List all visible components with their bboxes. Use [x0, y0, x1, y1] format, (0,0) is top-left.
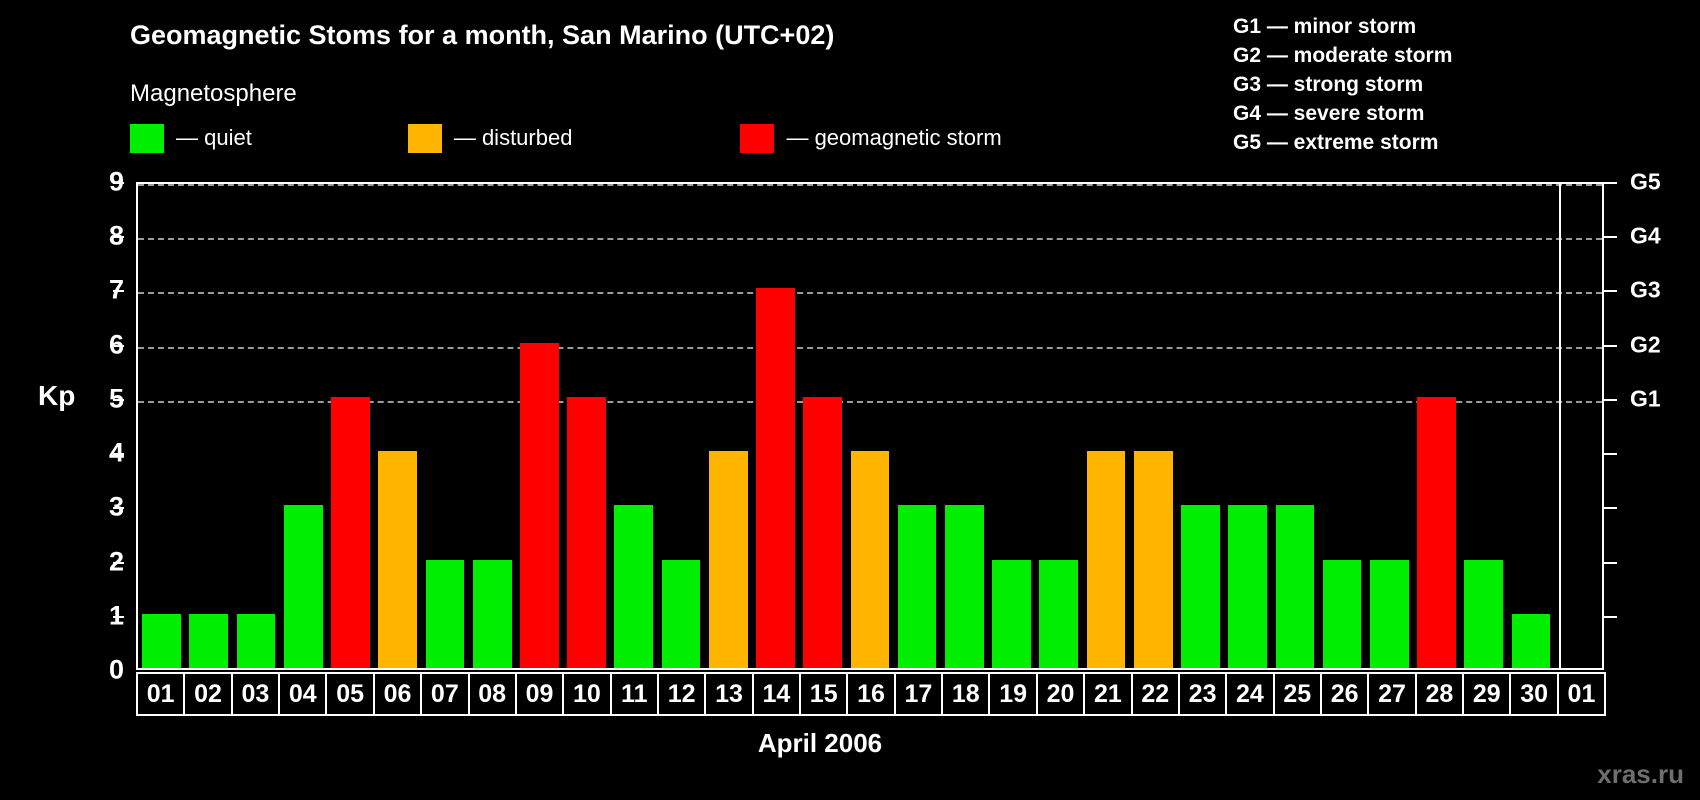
day-label-19[interactable]: 19 — [988, 672, 1037, 716]
legend: — quiet— disturbed— geomagnetic storm — [130, 122, 1002, 154]
bar-slot-day-03[interactable] — [232, 184, 279, 668]
bar-slot-day-10[interactable] — [563, 184, 610, 668]
y-tick-mark-7 — [113, 290, 124, 292]
day-label-14[interactable]: 14 — [752, 672, 801, 716]
day-label-30[interactable]: 30 — [1509, 672, 1558, 716]
bar-day-15[interactable] — [803, 397, 842, 668]
bar-slot-day-24[interactable] — [1224, 184, 1271, 668]
day-label-06[interactable]: 06 — [373, 672, 422, 716]
bar-day-27[interactable] — [1370, 560, 1409, 668]
bar-slot-day-20[interactable] — [1035, 184, 1082, 668]
bar-day-30[interactable] — [1512, 614, 1551, 668]
bar-day-11[interactable] — [614, 505, 653, 668]
day-label-21[interactable]: 21 — [1083, 672, 1132, 716]
bar-day-13[interactable] — [709, 451, 748, 668]
day-label-02[interactable]: 02 — [183, 672, 232, 716]
bar-day-05[interactable] — [331, 397, 370, 668]
g-axis-tick-kp-5 — [1604, 399, 1617, 401]
day-label-17[interactable]: 17 — [894, 672, 943, 716]
g-axis-label-G4: G4 — [1630, 223, 1661, 250]
legend-item-disturbed: — disturbed — [408, 122, 573, 154]
day-label-09[interactable]: 09 — [515, 672, 564, 716]
y-tick-mark-5 — [113, 399, 124, 401]
bar-slot-day-04[interactable] — [280, 184, 327, 668]
day-label-20[interactable]: 20 — [1036, 672, 1085, 716]
bar-day-28[interactable] — [1417, 397, 1456, 668]
g-scale-axis: G1G2G3G4G5 — [1604, 182, 1700, 670]
day-label-03[interactable]: 03 — [231, 672, 280, 716]
g-axis-tick-kp-7 — [1604, 290, 1617, 292]
day-label-24[interactable]: 24 — [1225, 672, 1274, 716]
geomagnetic-storm-chart: Geomagnetic Stoms for a month, San Marin… — [0, 0, 1700, 800]
bar-slot-day-02[interactable] — [185, 184, 232, 668]
g-scale-row-5: G5 — extreme storm — [1233, 128, 1452, 157]
day-label-27[interactable]: 27 — [1367, 672, 1416, 716]
bar-day-16[interactable] — [851, 451, 890, 668]
day-label-22[interactable]: 22 — [1131, 672, 1180, 716]
bar-slot-day-01[interactable] — [1555, 184, 1602, 668]
bar-slot-day-13[interactable] — [705, 184, 752, 668]
bar-slot-day-27[interactable] — [1366, 184, 1413, 668]
legend-label-storm: — geomagnetic storm — [786, 125, 1001, 151]
y-tick-mark-1 — [113, 616, 124, 618]
watermark: xras.ru — [1597, 759, 1684, 790]
g-scale-row-1: G1 — minor storm — [1233, 12, 1452, 41]
g-axis-label-G1: G1 — [1630, 385, 1661, 412]
day-label-05[interactable]: 05 — [325, 672, 374, 716]
bar-day-04[interactable] — [284, 505, 323, 668]
y-tick-mark-3 — [113, 507, 124, 509]
bar-slot-day-14[interactable] — [752, 184, 799, 668]
g-axis-tick-kp-3 — [1604, 507, 1617, 509]
bar-day-14[interactable] — [756, 288, 795, 668]
day-label-18[interactable]: 18 — [941, 672, 990, 716]
bar-day-12[interactable] — [662, 560, 701, 668]
bar-slot-day-21[interactable] — [1082, 184, 1129, 668]
g-scale-row-3: G3 — strong storm — [1233, 70, 1452, 99]
bar-day-29[interactable] — [1464, 560, 1503, 668]
day-label-01[interactable]: 01 — [136, 672, 185, 716]
bar-day-25[interactable] — [1276, 505, 1315, 668]
y-axis-title: Kp — [38, 380, 75, 412]
day-label-next-month[interactable]: 01 — [1557, 672, 1606, 716]
y-tick-mark-9 — [113, 182, 124, 184]
bar-day-09[interactable] — [520, 343, 559, 668]
bar-slot-day-22[interactable] — [1130, 184, 1177, 668]
y-axis: 0123456789 — [72, 182, 124, 670]
bar-slot-day-05[interactable] — [327, 184, 374, 668]
g-axis-tick-kp-1 — [1604, 616, 1617, 618]
bar-day-01[interactable] — [142, 614, 181, 668]
day-label-26[interactable]: 26 — [1320, 672, 1369, 716]
day-label-07[interactable]: 07 — [420, 672, 469, 716]
plot-inner — [138, 184, 1602, 668]
bar-day-10[interactable] — [567, 397, 606, 668]
day-label-25[interactable]: 25 — [1273, 672, 1322, 716]
g-axis-tick-kp-9 — [1604, 182, 1617, 184]
bar-slot-day-12[interactable] — [657, 184, 704, 668]
page-title: Geomagnetic Stoms for a month, San Marin… — [130, 20, 834, 51]
bar-day-03[interactable] — [237, 614, 276, 668]
y-tick-mark-8 — [113, 236, 124, 238]
bar-day-23[interactable] — [1181, 505, 1220, 668]
g-axis-label-G3: G3 — [1630, 277, 1661, 304]
day-label-12[interactable]: 12 — [657, 672, 706, 716]
g-scale-row-2: G2 — moderate storm — [1233, 41, 1452, 70]
bar-slot-day-28[interactable] — [1413, 184, 1460, 668]
y-tick-label-0: 0 — [109, 655, 124, 686]
legend-swatch-storm — [740, 124, 774, 153]
y-tick-mark-2 — [113, 562, 124, 564]
day-label-08[interactable]: 08 — [468, 672, 517, 716]
y-tick-mark-6 — [113, 345, 124, 347]
day-label-29[interactable]: 29 — [1462, 672, 1511, 716]
bar-slot-day-30[interactable] — [1507, 184, 1554, 668]
bar-slot-day-07[interactable] — [421, 184, 468, 668]
bar-day-06[interactable] — [378, 451, 417, 668]
x-axis-title-text: April 2006 — [758, 728, 882, 759]
g-axis-label-G2: G2 — [1630, 331, 1661, 358]
next-month-separator — [1559, 184, 1561, 668]
bar-day-08[interactable] — [473, 560, 512, 668]
day-label-13[interactable]: 13 — [704, 672, 753, 716]
bar-day-07[interactable] — [426, 560, 465, 668]
g-axis-tick-kp-8 — [1604, 236, 1617, 238]
g-axis-label-G5: G5 — [1630, 169, 1661, 196]
bar-slot-day-15[interactable] — [799, 184, 846, 668]
bar-day-22[interactable] — [1134, 451, 1173, 668]
x-axis-title: April 2006 — [0, 728, 1700, 759]
bar-day-18[interactable] — [945, 505, 984, 668]
bar-slot-day-25[interactable] — [1271, 184, 1318, 668]
legend-item-storm: — geomagnetic storm — [740, 122, 1001, 154]
bar-day-02[interactable] — [189, 614, 228, 668]
bar-slot-day-06[interactable] — [374, 184, 421, 668]
day-label-11[interactable]: 11 — [610, 672, 659, 716]
bar-series — [138, 184, 1602, 668]
bar-slot-day-29[interactable] — [1460, 184, 1507, 668]
day-label-23[interactable]: 23 — [1178, 672, 1227, 716]
x-axis-day-cells: 0102030405060708091011121314151617181920… — [136, 672, 1604, 716]
bar-day-20[interactable] — [1039, 560, 1078, 668]
day-label-10[interactable]: 10 — [562, 672, 611, 716]
g-axis-tick-kp-6 — [1604, 345, 1617, 347]
g-scale-legend: G1 — minor stormG2 — moderate stormG3 — … — [1233, 12, 1452, 157]
g-scale-row-4: G4 — severe storm — [1233, 99, 1452, 128]
g-axis-tick-kp-2 — [1604, 562, 1617, 564]
bar-day-21[interactable] — [1087, 451, 1126, 668]
day-label-28[interactable]: 28 — [1415, 672, 1464, 716]
magnetosphere-label: Magnetosphere — [130, 80, 297, 108]
legend-swatch-disturbed — [408, 124, 442, 153]
legend-label-disturbed: — disturbed — [454, 125, 573, 151]
bar-day-19[interactable] — [992, 560, 1031, 668]
bar-slot-day-09[interactable] — [516, 184, 563, 668]
bar-slot-day-19[interactable] — [988, 184, 1035, 668]
bar-slot-day-11[interactable] — [610, 184, 657, 668]
g-axis-tick-kp-4 — [1604, 453, 1617, 455]
y-tick-mark-4 — [113, 453, 124, 455]
bar-slot-day-08[interactable] — [469, 184, 516, 668]
bar-day-24[interactable] — [1228, 505, 1267, 668]
bar-slot-day-17[interactable] — [894, 184, 941, 668]
bar-slot-day-23[interactable] — [1177, 184, 1224, 668]
legend-label-quiet: — quiet — [176, 125, 252, 151]
legend-item-quiet: — quiet — [130, 122, 252, 154]
bar-slot-day-01[interactable] — [138, 184, 185, 668]
bar-slot-day-18[interactable] — [941, 184, 988, 668]
bar-slot-day-16[interactable] — [846, 184, 893, 668]
day-label-16[interactable]: 16 — [846, 672, 895, 716]
bar-slot-day-26[interactable] — [1318, 184, 1365, 668]
plot-area — [136, 182, 1604, 670]
day-label-04[interactable]: 04 — [278, 672, 327, 716]
bar-day-26[interactable] — [1323, 560, 1362, 668]
day-label-15[interactable]: 15 — [799, 672, 848, 716]
bar-day-17[interactable] — [898, 505, 937, 668]
legend-swatch-quiet — [130, 124, 164, 153]
